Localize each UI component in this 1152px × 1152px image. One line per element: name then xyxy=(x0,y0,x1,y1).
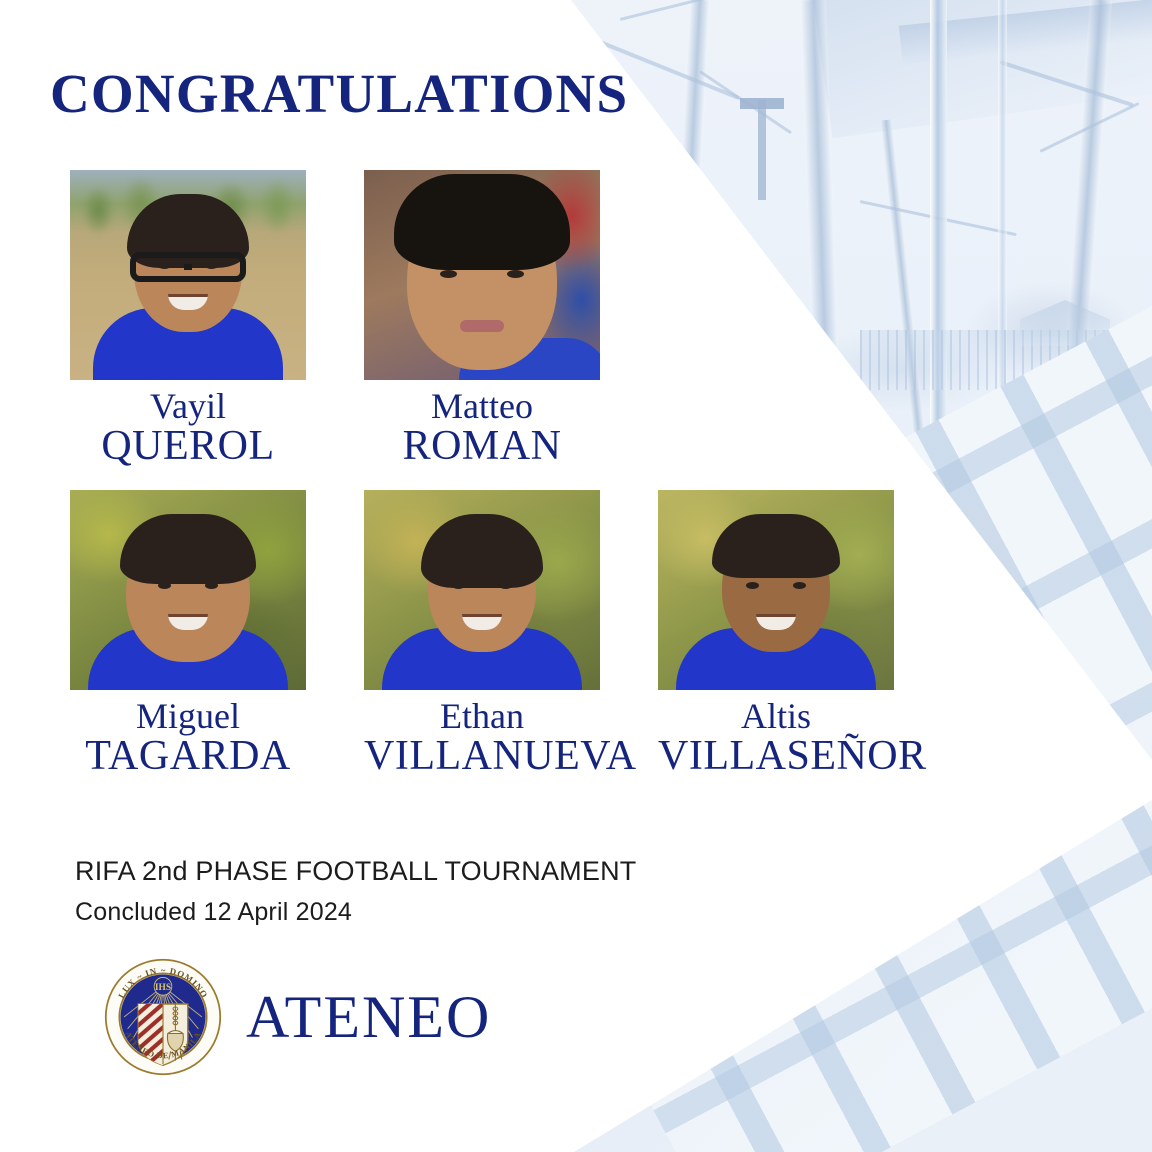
congratulations-poster: CONGRATULATIONS xyxy=(0,0,1152,1152)
eye-left xyxy=(746,582,759,589)
player-photo xyxy=(364,490,600,690)
player-first-name: Matteo xyxy=(364,388,600,425)
eye-right xyxy=(205,582,218,589)
player-last-name: QUEROL xyxy=(70,425,306,468)
winners-row-1: Vayil QUEROL xyxy=(70,170,600,468)
player-last-name: VILLANUEVA xyxy=(364,735,600,778)
player-last-name: VILLASEÑOR xyxy=(658,735,894,778)
photo-background xyxy=(70,170,306,380)
eye-left xyxy=(452,582,465,589)
event-date-line: Concluded 12 April 2024 xyxy=(75,898,352,927)
player-photo xyxy=(70,170,306,380)
player-figure xyxy=(364,490,600,690)
player-name: Altis VILLASEÑOR xyxy=(658,698,894,778)
eye-left xyxy=(158,582,171,589)
ateneo-wordmark: ATENEO xyxy=(246,983,491,1052)
player-photo xyxy=(364,170,600,380)
ateneo-seal-icon: IHS xyxy=(104,958,222,1076)
hair xyxy=(712,514,840,578)
player-photo xyxy=(70,490,306,690)
player-figure xyxy=(658,490,894,690)
player-name: Ethan VILLANUEVA xyxy=(364,698,600,778)
player-card: Vayil QUEROL xyxy=(70,170,306,468)
player-name: Matteo ROMAN xyxy=(364,388,600,468)
player-first-name: Miguel xyxy=(70,698,306,735)
player-first-name: Vayil xyxy=(70,388,306,425)
ateneo-logo-lockup: IHS xyxy=(104,958,491,1076)
winners-row-2: Miguel TAGARDA xyxy=(70,490,894,778)
player-card: Altis VILLASEÑOR xyxy=(658,490,894,778)
player-last-name: ROMAN xyxy=(364,425,600,468)
hair xyxy=(120,514,256,584)
photo-background xyxy=(364,170,600,380)
player-name: Miguel TAGARDA xyxy=(70,698,306,778)
player-first-name: Altis xyxy=(658,698,894,735)
hair xyxy=(421,514,543,588)
player-card: Matteo ROMAN xyxy=(364,170,600,468)
photo-background xyxy=(70,490,306,690)
player-card: Ethan VILLANUEVA xyxy=(364,490,600,778)
player-figure xyxy=(70,170,306,380)
player-last-name: TAGARDA xyxy=(70,735,306,778)
player-figure xyxy=(70,490,306,690)
page-title: CONGRATULATIONS xyxy=(50,62,628,125)
sports-goggles-icon xyxy=(130,252,246,282)
hair xyxy=(394,174,570,270)
eye-right xyxy=(499,582,512,589)
player-card: Miguel TAGARDA xyxy=(70,490,306,778)
eye-left xyxy=(440,270,457,278)
photo-background xyxy=(658,490,894,690)
eye-right xyxy=(507,270,524,278)
player-figure xyxy=(364,170,600,380)
svg-text:IHS: IHS xyxy=(155,983,171,993)
player-first-name: Ethan xyxy=(364,698,600,735)
player-photo xyxy=(658,490,894,690)
mouth xyxy=(460,320,504,332)
photo-background xyxy=(364,490,600,690)
event-title: RIFA 2nd PHASE FOOTBALL TOURNAMENT xyxy=(75,856,636,887)
poster-content: CONGRATULATIONS xyxy=(0,0,1152,1152)
player-name: Vayil QUEROL xyxy=(70,388,306,468)
eye-right xyxy=(793,582,806,589)
